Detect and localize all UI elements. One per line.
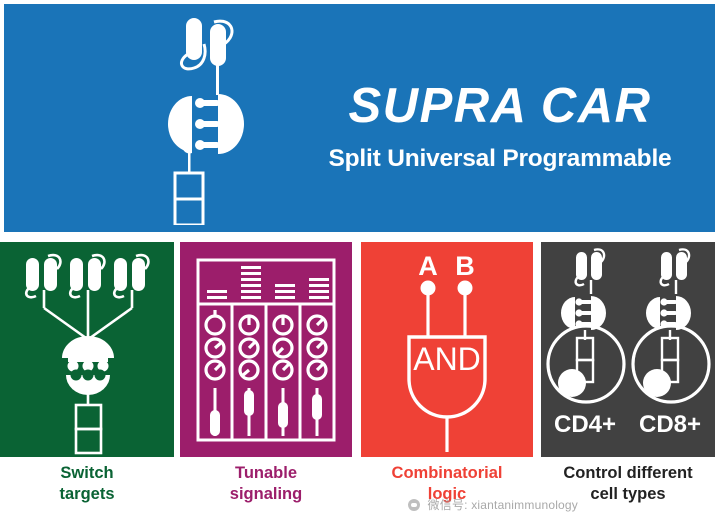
panel-caption-combinatorial-logic: Combinatorial logic bbox=[361, 463, 533, 505]
header-text-block: SUPRA CAR Split Universal Programmable bbox=[294, 82, 706, 202]
caption-line-2: cell types bbox=[541, 484, 715, 505]
caption-line-1: Tunable bbox=[180, 463, 352, 484]
page-title: SUPRA CAR bbox=[349, 82, 652, 131]
caption-line-2: logic bbox=[361, 484, 533, 505]
caption-line-2: targets bbox=[0, 484, 174, 505]
panel-control-cell-types[interactable]: CD4+ CD8+ Control different cell types bbox=[541, 242, 715, 524]
cell-label-cd4: CD4+ bbox=[554, 411, 616, 438]
panel-caption-control-cell-types: Control different cell types bbox=[541, 463, 715, 505]
feature-panels: Switch targets bbox=[0, 242, 719, 524]
gate-input-label-a: A bbox=[418, 251, 438, 281]
t-cell-subsets-icon: CD4+ CD8+ bbox=[541, 242, 715, 457]
mixing-console-icon bbox=[180, 242, 352, 457]
panel-switch-targets[interactable]: Switch targets bbox=[0, 242, 174, 524]
page-subtitle: Split Universal Programmable bbox=[329, 145, 672, 173]
multiple-scfv-adapters-icon bbox=[0, 242, 174, 457]
header-banner: SUPRA CAR Split Universal Programmable bbox=[4, 4, 715, 232]
panel-caption-tunable-signaling: Tunable signaling bbox=[180, 463, 352, 505]
caption-line-2: signaling bbox=[180, 484, 352, 505]
panel-combinatorial-logic[interactable]: A B AND Combinatorial bbox=[361, 242, 533, 524]
caption-line-1: Combinatorial bbox=[361, 463, 533, 484]
caption-line-1: Switch bbox=[0, 463, 174, 484]
cell-label-cd8: CD8+ bbox=[639, 411, 701, 438]
infographic-root: SUPRA CAR Split Universal Programmable bbox=[0, 0, 719, 524]
caption-line-1: Control different bbox=[541, 463, 715, 484]
panel-tunable-signaling[interactable]: Tunable signaling bbox=[180, 242, 352, 524]
panel-caption-switch-targets: Switch targets bbox=[0, 463, 174, 505]
split-car-receptor-icon bbox=[152, 10, 262, 225]
and-gate-icon: A B AND bbox=[361, 242, 533, 457]
gate-input-label-b: B bbox=[455, 251, 475, 281]
gate-label: AND bbox=[413, 341, 481, 377]
